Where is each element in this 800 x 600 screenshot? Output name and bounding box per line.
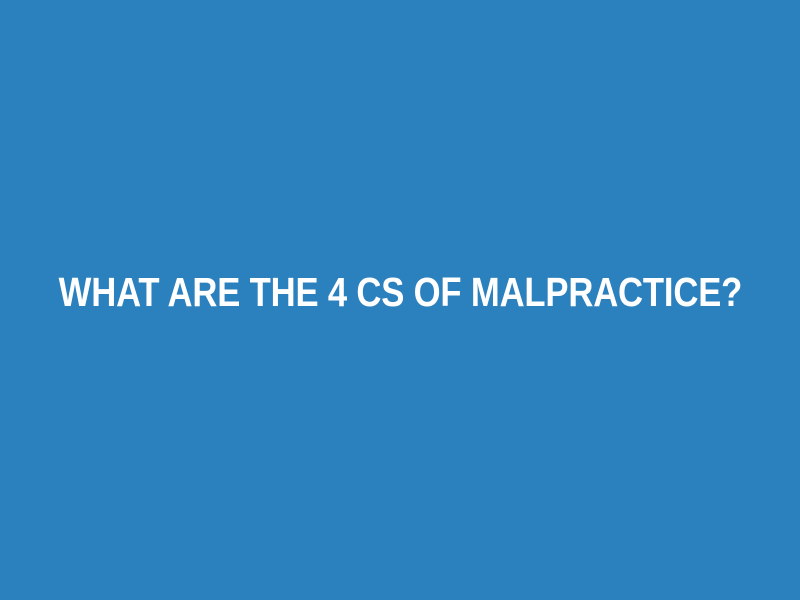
hero-card: WHAT ARE THE 4 CS OF MALPRACTICE? [0, 0, 800, 600]
title-block: WHAT ARE THE 4 CS OF MALPRACTICE? [0, 0, 800, 600]
page-title: WHAT ARE THE 4 CS OF MALPRACTICE? [58, 271, 741, 314]
